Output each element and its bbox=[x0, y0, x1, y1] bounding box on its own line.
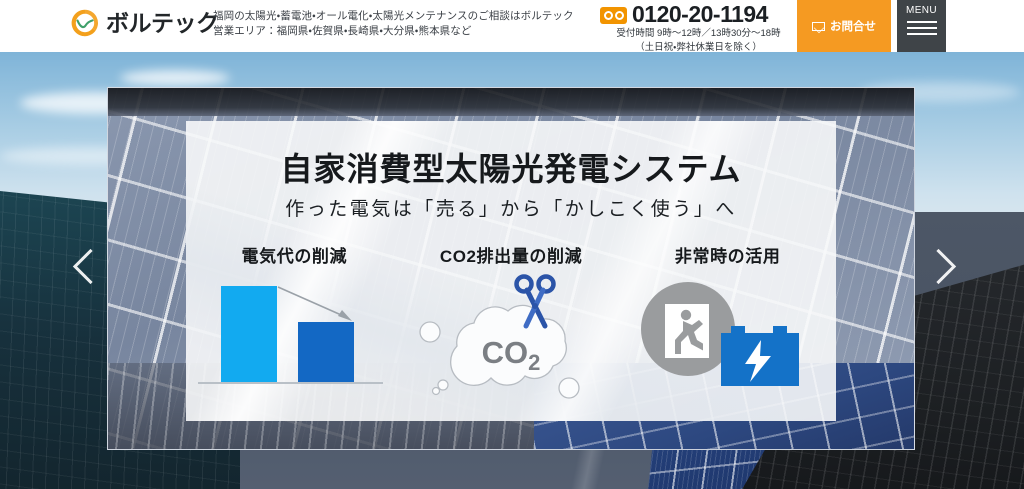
scissors-icon bbox=[511, 274, 561, 336]
logo-text: ボルテック bbox=[106, 8, 219, 38]
contact-button[interactable]: お問合せ bbox=[797, 0, 891, 52]
mail-icon bbox=[812, 22, 825, 31]
hero-slider: 自家消費型太陽光発電システム 作った電気は「売る」から「かしこく使う」へ 電気代… bbox=[0, 52, 1024, 489]
feature-label: CO2排出量の削減 bbox=[403, 246, 620, 268]
feature-item-co2-reduction: CO2排出量の削減 bbox=[403, 246, 620, 416]
slide-title: 自家消費型太陽光発電システム bbox=[186, 149, 836, 189]
contact-button-label: お問合せ bbox=[830, 18, 876, 34]
emergency-art-wrapper bbox=[619, 274, 836, 406]
menu-button[interactable]: MENU bbox=[897, 0, 946, 52]
slide-content-panel: 自家消費型太陽光発電システム 作った電気は「売る」から「かしこく使う」へ 電気代… bbox=[186, 121, 836, 421]
slider-prev-button[interactable] bbox=[68, 244, 108, 292]
downward-arrow-icon bbox=[186, 274, 396, 406]
site-logo[interactable]: ボルテック bbox=[70, 8, 219, 38]
hero-slide: 自家消費型太陽光発電システム 作った電気は「売る」から「かしこく使う」へ 電気代… bbox=[107, 87, 915, 450]
cloud-shape bbox=[120, 70, 230, 86]
tagline-line-1: 福岡の太陽光・蓄電池・オール電化・太陽光メンテナンスのご相談はボルテック bbox=[213, 9, 574, 24]
tagline-line-2: 営業エリア：福岡県・佐賀県・長崎県・大分県・熊本県など bbox=[213, 24, 574, 39]
telephone-row: 0120-20-1194 bbox=[600, 2, 800, 26]
emergency-exit-and-battery-icon bbox=[619, 274, 836, 406]
emergency-exit-icon bbox=[659, 300, 721, 362]
freedial-icon bbox=[600, 7, 627, 24]
slide-feature-list: 電気代の削減 CO2排出量の削減 bbox=[186, 246, 836, 416]
slide-subtitle: 作った電気は「売る」から「かしこく使う」へ bbox=[186, 196, 836, 224]
voltec-circle-logo-icon bbox=[70, 8, 100, 38]
telephone-hours-line-2: （土日祝・弊社休業日を除く） bbox=[600, 41, 797, 54]
co2-cloud-with-scissors-icon: CO2 bbox=[403, 274, 620, 406]
menu-button-label: MENU bbox=[906, 5, 937, 17]
feature-label: 電気代の削減 bbox=[186, 246, 403, 268]
site-header: ボルテック 福岡の太陽光・蓄電池・オール電化・太陽光メンテナンスのご相談はボルテ… bbox=[0, 0, 1024, 52]
bar-chart-decreasing-icon bbox=[186, 274, 403, 406]
feature-label: 非常時の活用 bbox=[619, 246, 836, 268]
feature-item-electricity-cost: 電気代の削減 bbox=[186, 246, 403, 416]
battery-icon bbox=[719, 322, 805, 388]
chevron-right-icon bbox=[921, 249, 956, 284]
header-tagline: 福岡の太陽光・蓄電池・オール電化・太陽光メンテナンスのご相談はボルテック 営業エ… bbox=[213, 9, 574, 39]
feature-item-emergency-use: 非常時の活用 bbox=[619, 246, 836, 416]
telephone-number[interactable]: 0120-20-1194 bbox=[632, 2, 768, 26]
hamburger-icon bbox=[907, 21, 937, 35]
telephone-hours-line-1: 受付時間 9時〜12時／13時30分〜18時 bbox=[600, 27, 797, 40]
slider-next-button[interactable] bbox=[916, 244, 956, 292]
telephone-block[interactable]: 0120-20-1194 受付時間 9時〜12時／13時30分〜18時 （土日祝… bbox=[600, 2, 800, 54]
slide-horizon-strip bbox=[108, 88, 915, 116]
co2-label: CO2 bbox=[403, 336, 620, 380]
chevron-left-icon bbox=[73, 249, 108, 284]
co2-art-wrapper: CO2 bbox=[403, 274, 620, 406]
